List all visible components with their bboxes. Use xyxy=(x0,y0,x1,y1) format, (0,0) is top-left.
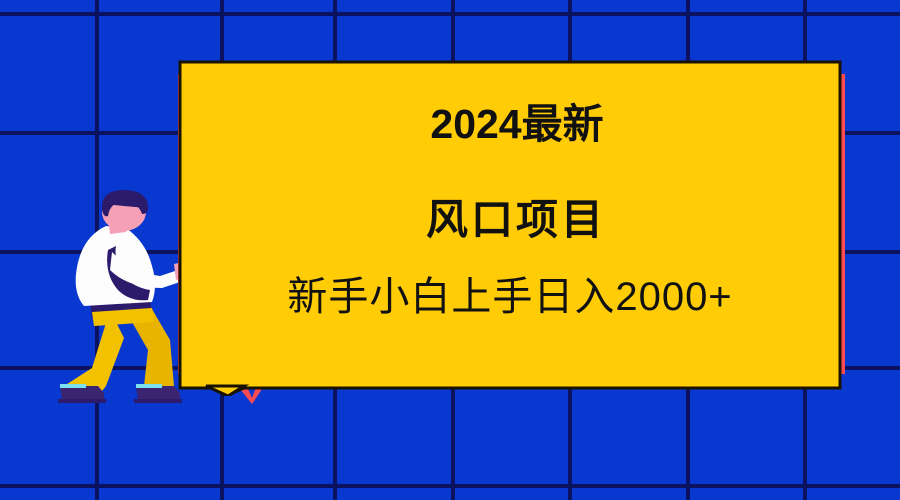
person-front-shoe-accent xyxy=(136,384,162,388)
grid-line-horizontal xyxy=(0,12,900,16)
person-back-shoe-sole xyxy=(58,399,106,403)
person-front-shoe-sole xyxy=(134,399,182,403)
person-back-shoe-accent xyxy=(60,384,86,388)
poster-canvas: 2024最新 风口项目 新手小白上手日入2000+ xyxy=(0,0,900,500)
person-front-shoe xyxy=(136,386,180,400)
speech-bubble-tail xyxy=(206,386,244,396)
speech-bubble xyxy=(178,60,842,396)
speech-bubble-body xyxy=(180,62,840,394)
person-back-shoe xyxy=(60,386,104,400)
grid-line-horizontal xyxy=(0,484,900,488)
